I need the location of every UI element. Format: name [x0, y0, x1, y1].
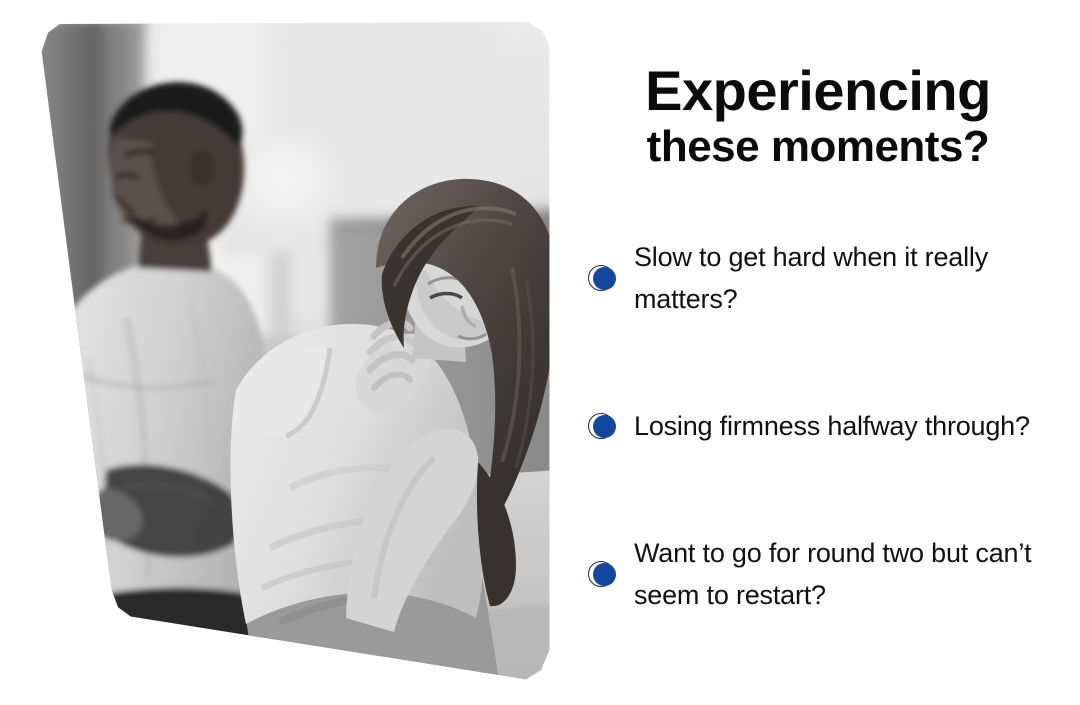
- list-item-label: Slow to get hard when it really matters?: [634, 236, 1054, 320]
- page-title: Experiencing these moments?: [588, 62, 1048, 174]
- list-item: Want to go for round two but can’t seem …: [588, 528, 1058, 620]
- couple-photo-illustration: [30, 18, 560, 686]
- headline-line-2: these moments?: [588, 120, 1048, 174]
- blue-circle-bullet-icon: [588, 262, 620, 294]
- photo-panel: [0, 0, 570, 705]
- list-item-label: Losing firmness halfway through?: [634, 405, 1030, 447]
- couple-photo: [30, 18, 560, 686]
- bullet-dot: [593, 563, 616, 586]
- list-item: Slow to get hard when it really matters?: [588, 232, 1058, 324]
- list-item-label: Want to go for round two but can’t seem …: [634, 532, 1054, 616]
- headline-line-1: Experiencing: [588, 62, 1048, 120]
- bullet-dot: [593, 415, 616, 438]
- copy-column: Experiencing these moments? Slow to get …: [588, 0, 1058, 705]
- promo-banner: Experiencing these moments? Slow to get …: [0, 0, 1080, 705]
- list-item: Losing firmness halfway through?: [588, 380, 1058, 472]
- bullet-dot: [593, 267, 616, 290]
- blue-circle-bullet-icon: [588, 410, 620, 442]
- blue-circle-bullet-icon: [588, 558, 620, 590]
- symptom-bullet-list: Slow to get hard when it really matters?…: [588, 232, 1058, 620]
